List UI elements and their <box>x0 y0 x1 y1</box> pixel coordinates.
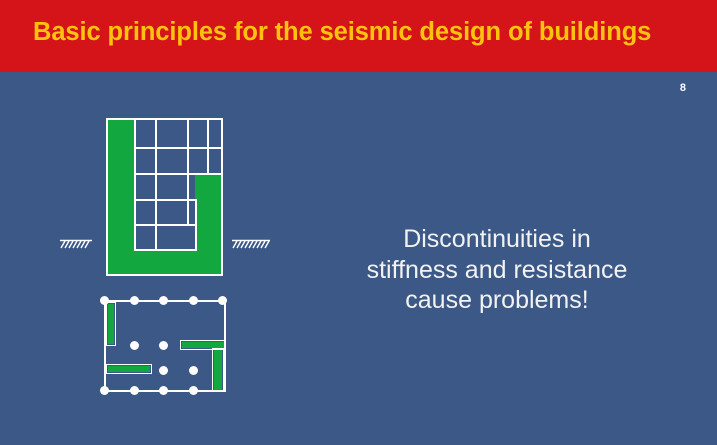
plan-wall-left-top <box>108 304 114 344</box>
plan-column-node <box>189 366 198 375</box>
plan-column-node <box>130 386 139 395</box>
plan-column-node <box>159 386 168 395</box>
page-number: 8 <box>680 82 686 94</box>
building-elevation-figure <box>106 118 223 276</box>
left-ground-support-icon <box>58 236 94 252</box>
plan-wall-mid-left <box>108 366 150 372</box>
caption-text: Discontinuities in stiffness and resista… <box>316 224 678 316</box>
caption-line-2: stiffness and resistance <box>316 255 678 286</box>
building-plan-figure <box>104 300 226 404</box>
slide-canvas: Basic principles for the seismic design … <box>0 0 717 445</box>
page-title: Basic principles for the seismic design … <box>33 18 651 47</box>
plan-column-node <box>189 386 198 395</box>
plan-column-node <box>100 386 109 395</box>
plan-wall-right-bottom <box>214 350 222 390</box>
plan-column-node <box>100 296 109 305</box>
plan-column-node <box>130 341 139 350</box>
caption-line-1: Discontinuities in <box>316 224 678 255</box>
plan-column-node <box>130 296 139 305</box>
plan-column-node <box>189 296 198 305</box>
plan-column-node <box>159 341 168 350</box>
right-ground-support-icon <box>230 236 272 252</box>
plan-column-node <box>159 366 168 375</box>
caption-line-3: cause problems! <box>316 285 678 316</box>
plan-column-node <box>159 296 168 305</box>
plan-column-node <box>218 296 227 305</box>
elevation-outer-frame <box>106 118 223 276</box>
